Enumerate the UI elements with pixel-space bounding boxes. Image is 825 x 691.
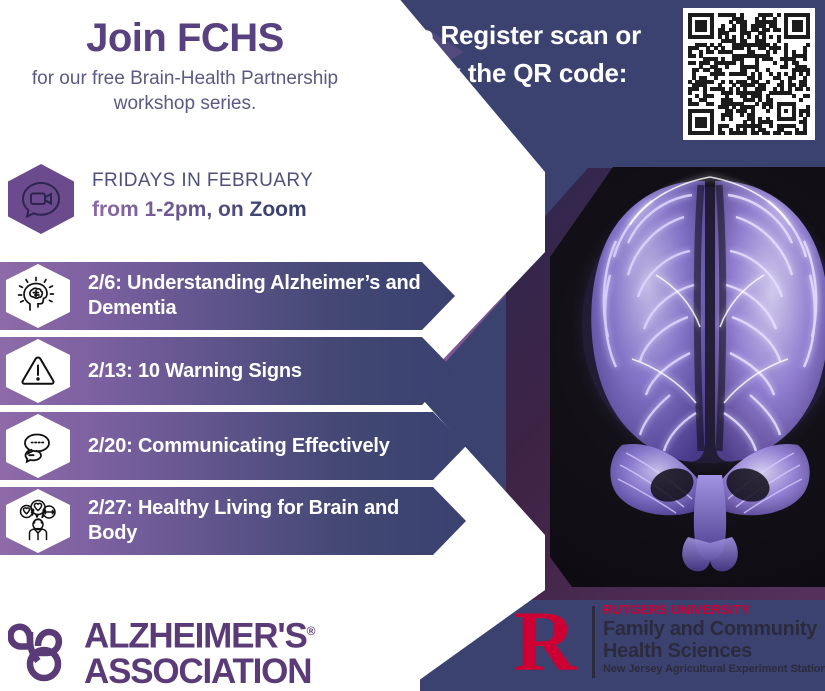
qr-code[interactable] [683, 8, 815, 140]
registered-mark: ® [307, 624, 316, 638]
rutgers-r-mark: R [505, 604, 585, 678]
list-item[interactable]: 2/13: 10 Warning Signs [0, 337, 470, 405]
alz-line-1-text: ALZHEIMER'S [84, 617, 307, 656]
rutgers-station-line: New Jersey Agricultural Experiment Stati… [603, 662, 825, 677]
session-label: 2/27: Healthy Living for Brain and Body [88, 487, 428, 555]
session-label: 2/20: Communicating Effectively [88, 412, 428, 480]
rutgers-dept-line-2: Health Sciences [603, 640, 825, 662]
alzheimers-association-logo: ALZHEIMER'S® ASSOCIATION [8, 612, 348, 684]
alz-line-2: ASSOCIATION [84, 654, 315, 689]
page-title: Join FCHS [0, 16, 370, 61]
session-list: 2/6: Understanding Alzheimer’s and Demen… [0, 262, 470, 562]
list-item[interactable]: 2/27: Healthy Living for Brain and Body [0, 487, 470, 555]
list-item[interactable]: 2/6: Understanding Alzheimer’s and Demen… [0, 262, 470, 330]
schedule-time: from 1-2pm, on Zoom [92, 198, 313, 222]
rutgers-divider [592, 606, 595, 678]
rutgers-logo: R RUTGERS UNIVERSITY Family and Communit… [505, 600, 825, 686]
alzheimers-association-mark [8, 620, 74, 687]
schedule-days: FRIDAYS IN FEBRUARY [92, 170, 313, 192]
alz-line-1: ALZHEIMER'S® [84, 614, 315, 654]
brain-illustration [560, 155, 825, 585]
rutgers-wordmark: RUTGERS UNIVERSITY Family and Community … [603, 602, 825, 677]
schedule-text: FRIDAYS IN FEBRUARY from 1-2pm, on Zoom [92, 170, 313, 222]
schedule-summary: FRIDAYS IN FEBRUARY from 1-2pm, on Zoom [8, 164, 358, 242]
session-label: 2/6: Understanding Alzheimer’s and Demen… [88, 262, 428, 330]
register-instructions: To Register scan or click the QR code: [404, 16, 679, 92]
alzheimers-association-wordmark: ALZHEIMER'S® ASSOCIATION [84, 614, 315, 689]
page-subtitle: for our free Brain-Health Partnership wo… [10, 66, 360, 116]
session-label: 2/13: 10 Warning Signs [88, 337, 428, 405]
video-camera-icon [8, 164, 74, 234]
list-item[interactable]: 2/20: Communicating Effectively [0, 412, 470, 480]
qr-code-canvas[interactable] [688, 13, 810, 135]
register-line-1: To Register scan or [404, 16, 679, 54]
rutgers-university-line: RUTGERS UNIVERSITY [603, 602, 825, 618]
rutgers-dept-line-1: Family and Community [603, 618, 825, 640]
register-line-2: click the QR code: [404, 54, 679, 92]
poster: Join FCHS for our free Brain-Health Part… [0, 0, 825, 691]
